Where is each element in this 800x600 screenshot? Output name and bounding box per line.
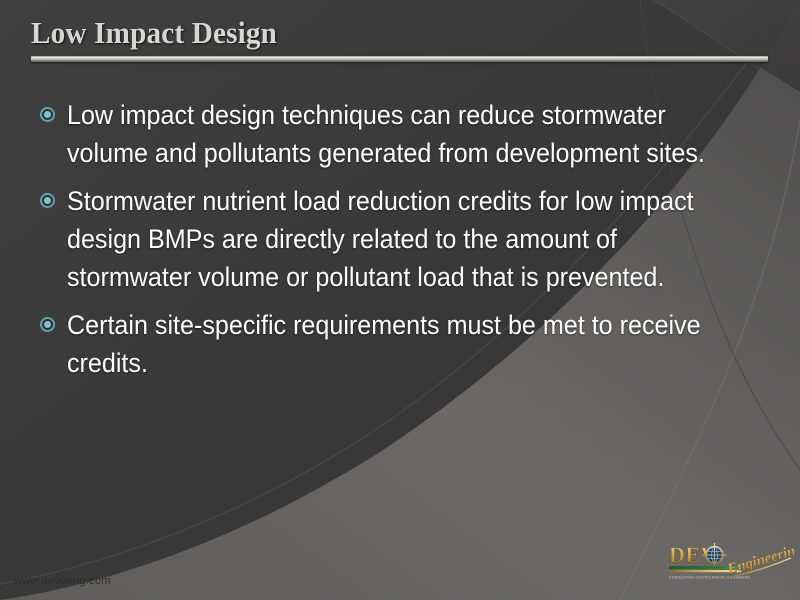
bullet-list: Low impact design techniques can reduce … [40, 96, 754, 392]
logo-script-engineering: Engineering [725, 541, 795, 578]
list-item: Certain site-specific requirements must … [40, 306, 754, 382]
bullet-text: Certain site-specific requirements must … [67, 306, 706, 382]
ring-bullet-icon [40, 107, 55, 122]
ring-bullet-icon [40, 193, 55, 208]
list-item: Low impact design techniques can reduce … [40, 96, 754, 172]
list-item: Stormwater nutrient load reduction credi… [40, 182, 754, 296]
bullet-text: Low impact design techniques can reduce … [67, 96, 706, 172]
page-title: Low Impact Design [31, 14, 727, 52]
ring-bullet-icon [40, 317, 55, 332]
title-divider [31, 56, 768, 62]
title-area: Low Impact Design [31, 14, 771, 66]
bullet-text: Stormwater nutrient load reduction credi… [67, 182, 706, 296]
presentation-slide: Low Impact Design Low impact design tech… [0, 0, 800, 600]
logo-tagline: CONSULTING GEOTECHNICAL ENGINEERS [669, 576, 750, 580]
devo-engineering-logo: DEV CONSULTING GEOTECHNICAL ENGINEERS En… [667, 538, 795, 586]
website-url: www.devoeng.com [14, 575, 111, 587]
